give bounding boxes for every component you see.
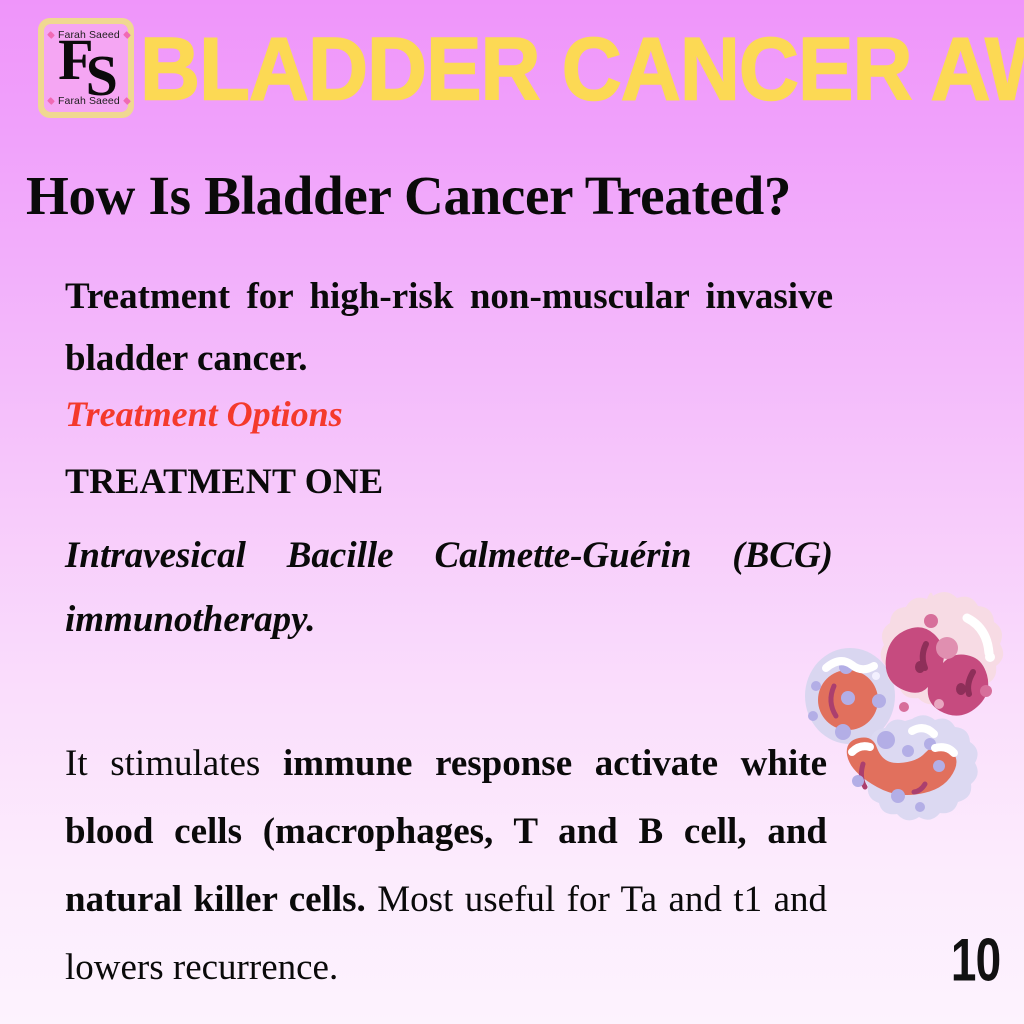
white-blood-cell-illustration-group [800, 588, 1024, 823]
monogram-letter-f: F [58, 27, 87, 92]
macrophage-cell-icon [881, 592, 1004, 732]
diamond-icon [123, 97, 131, 105]
intro-paragraph: Treatment for high-risk non-muscular inv… [65, 266, 833, 390]
treatment-one-label: TREATMENT ONE [65, 458, 383, 504]
header-banner: Farah Saeed FS Farah Saeed BLADDER CANCE… [0, 0, 1024, 136]
brand-logo: Farah Saeed FS Farah Saeed [38, 18, 134, 118]
brand-logo-bottom-text: Farah Saeed [44, 95, 128, 107]
page-number: 10 [951, 930, 1000, 990]
page-title: How Is Bladder Cancer Treated? [26, 163, 791, 229]
brand-monogram: FS [44, 38, 128, 96]
neutrophil-cell-icon [847, 715, 978, 820]
banner-title: BLADDER CANCER AWARENESS [140, 22, 1001, 117]
body-paragraph: It stimulates immune response activate w… [65, 730, 827, 1002]
treatment-options-label: Treatment Options [65, 391, 343, 437]
treatment-name-text: Intravesical Bacille Calmette-Guérin (BC… [65, 524, 833, 652]
body-lead-text: It stimulates [65, 743, 283, 784]
diamond-icon [47, 97, 55, 105]
brand-name-bottom: Farah Saeed [58, 95, 120, 107]
slide-canvas: Farah Saeed FS Farah Saeed BLADDER CANCE… [0, 0, 1024, 1024]
brand-logo-inner: Farah Saeed FS Farah Saeed [44, 24, 128, 112]
